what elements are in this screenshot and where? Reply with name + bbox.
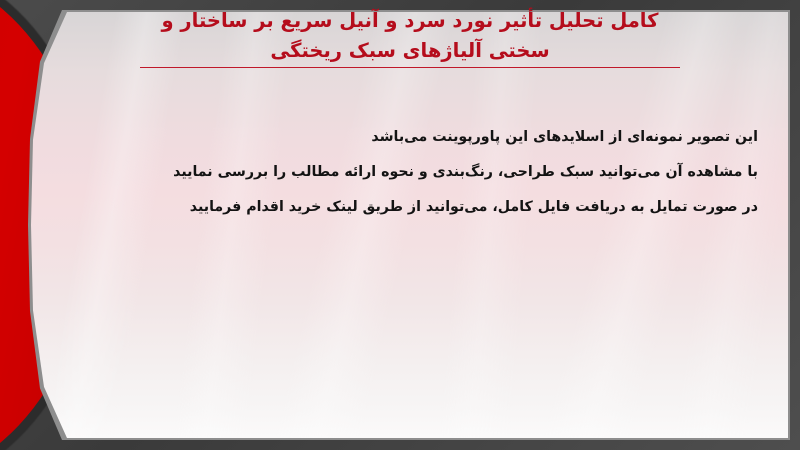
title-underline-divider <box>140 67 680 68</box>
content-panel <box>31 12 788 438</box>
title-line-1: کامل تحلیل تأثیر نورد سرد و آنیل سریع بر… <box>60 6 760 36</box>
body-line-3: در صورت تمایل به دریافت فایل کامل، می‌تو… <box>60 190 758 225</box>
diagonal-ray-streaks-decoration <box>31 12 788 438</box>
body-line-2: با مشاهده آن می‌توانید سبک طراحی، رنگ‌بن… <box>60 155 758 190</box>
presentation-slide: کامل تحلیل تأثیر نورد سرد و آنیل سریع بر… <box>0 0 800 450</box>
body-line-1: این تصویر نمونه‌ای از اسلایدهای این پاور… <box>60 120 758 155</box>
title-line-2: سختی آلیاژهای سبک ریختگی <box>60 36 760 66</box>
slide-body-text: این تصویر نمونه‌ای از اسلایدهای این پاور… <box>60 120 758 224</box>
slide-title: کامل تحلیل تأثیر نورد سرد و آنیل سریع بر… <box>60 6 760 68</box>
